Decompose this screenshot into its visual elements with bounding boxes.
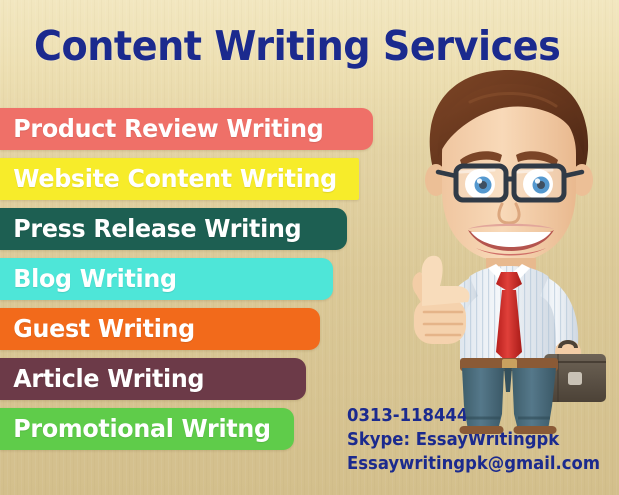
- necktie: [496, 272, 522, 364]
- service-bar[interactable]: Website Content Writing: [0, 158, 359, 200]
- contact-email: Essaywritingpk@gmail.com: [347, 452, 600, 476]
- service-bar-label: Article Writing: [0, 365, 204, 393]
- service-bar-label: Website Content Writing: [0, 165, 337, 193]
- poster-canvas: Content Writing Services Product Review …: [0, 0, 619, 495]
- left-shoe: [460, 426, 504, 434]
- left-leg: [462, 368, 504, 430]
- service-bar-label: Promotional Writng: [0, 415, 271, 443]
- service-bar-label: Press Release Writing: [0, 215, 301, 243]
- service-bar[interactable]: Press Release Writing: [0, 208, 347, 250]
- service-bar[interactable]: Article Writing: [0, 358, 306, 400]
- right-leg: [512, 368, 556, 430]
- services-list: Product Review WritingWebsite Content Wr…: [0, 108, 400, 458]
- thumbs-up-icon: [413, 256, 470, 344]
- service-bar[interactable]: Blog Writing: [0, 258, 333, 300]
- service-bar[interactable]: Guest Writing: [0, 308, 320, 350]
- service-bar[interactable]: Product Review Writing: [0, 108, 373, 150]
- service-bar[interactable]: Promotional Writng: [0, 408, 294, 450]
- service-bar-label: Product Review Writing: [0, 115, 323, 143]
- businessman-illustration: [398, 62, 619, 434]
- service-bar-label: Blog Writing: [0, 265, 177, 293]
- right-shoe: [514, 426, 557, 434]
- service-bar-label: Guest Writing: [0, 315, 195, 343]
